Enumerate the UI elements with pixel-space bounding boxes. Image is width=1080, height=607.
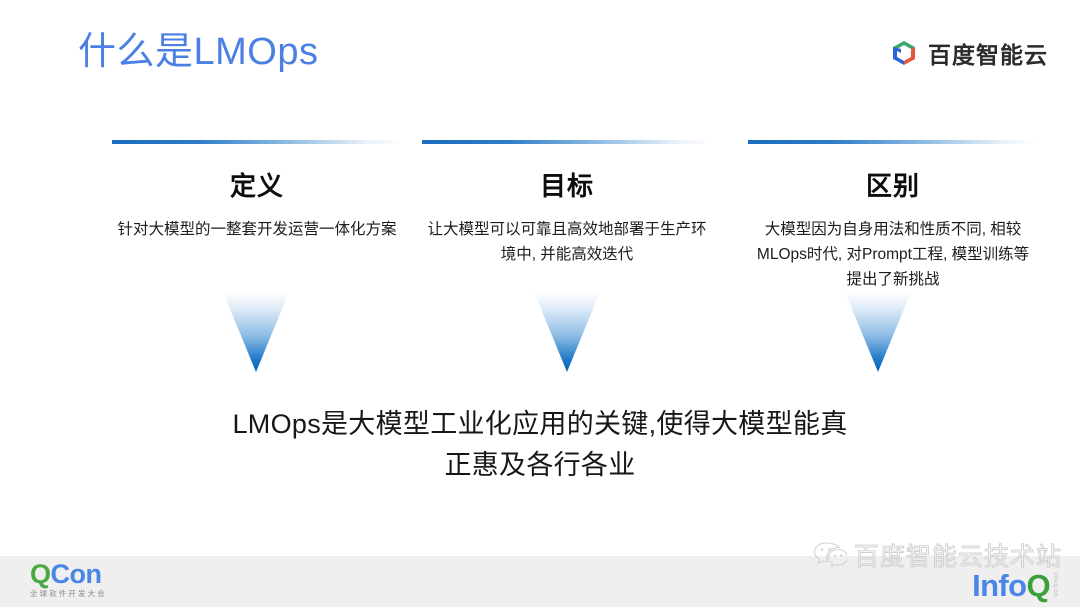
column-body-text: 大模型因为自身用法和性质不同, 相较MLOps时代, 对Prompt工程, 模型… xyxy=(748,217,1038,292)
page-title: 什么是LMOps xyxy=(78,26,318,78)
down-triangle-icon xyxy=(223,292,289,372)
infoq-wordmark: InfoQ xyxy=(972,570,1050,601)
column-goal: 目标 让大模型可以可靠且高效地部署于生产环境中, 并能高效迭代 xyxy=(422,140,712,267)
qcon-wordmark: QCon xyxy=(30,560,116,588)
column-body-text: 让大模型可以可靠且高效地部署于生产环境中, 并能高效迭代 xyxy=(422,217,712,267)
column-rule xyxy=(422,140,712,144)
footer-band xyxy=(0,556,1080,607)
column-heading: 区别 xyxy=(748,166,1038,203)
qcon-logo: QCon 全球软件开发大会 xyxy=(30,560,116,599)
column-rule xyxy=(748,140,1038,144)
brand-logo: 百度智能云 xyxy=(889,36,1048,70)
column-definition: 定义 针对大模型的一整套开发运营一体化方案 xyxy=(112,140,402,242)
down-triangle-icon xyxy=(534,292,600,372)
slide-canvas: 什么是LMOps 百度智能云 定义 针对大模型的一整套开发运营一体化方案 目标 … xyxy=(0,0,1080,607)
column-heading: 定义 xyxy=(112,166,402,203)
column-rule xyxy=(112,140,402,144)
conclusion-text: LMOps是大模型工业化应用的关键,使得大模型能真正惠及各行各业 xyxy=(230,404,850,486)
column-heading: 目标 xyxy=(422,166,712,203)
down-triangle-icon xyxy=(845,292,911,372)
infoq-letter-q: Q xyxy=(1026,568,1050,603)
qcon-subtitle: 全球软件开发大会 xyxy=(30,588,116,599)
infoq-letters-info: Info xyxy=(972,568,1026,603)
infoq-logo: InfoQ infoq.cn xyxy=(972,570,1058,601)
qcon-letter-q: Q xyxy=(30,559,51,589)
infoq-tagline: infoq.cn xyxy=(1052,572,1058,597)
column-body-text: 针对大模型的一整套开发运营一体化方案 xyxy=(112,217,402,242)
baidu-cube-icon xyxy=(889,38,919,68)
column-difference: 区别 大模型因为自身用法和性质不同, 相较MLOps时代, 对Prompt工程,… xyxy=(748,140,1038,292)
brand-name: 百度智能云 xyxy=(928,36,1048,70)
qcon-letters-con: Con xyxy=(51,559,102,589)
